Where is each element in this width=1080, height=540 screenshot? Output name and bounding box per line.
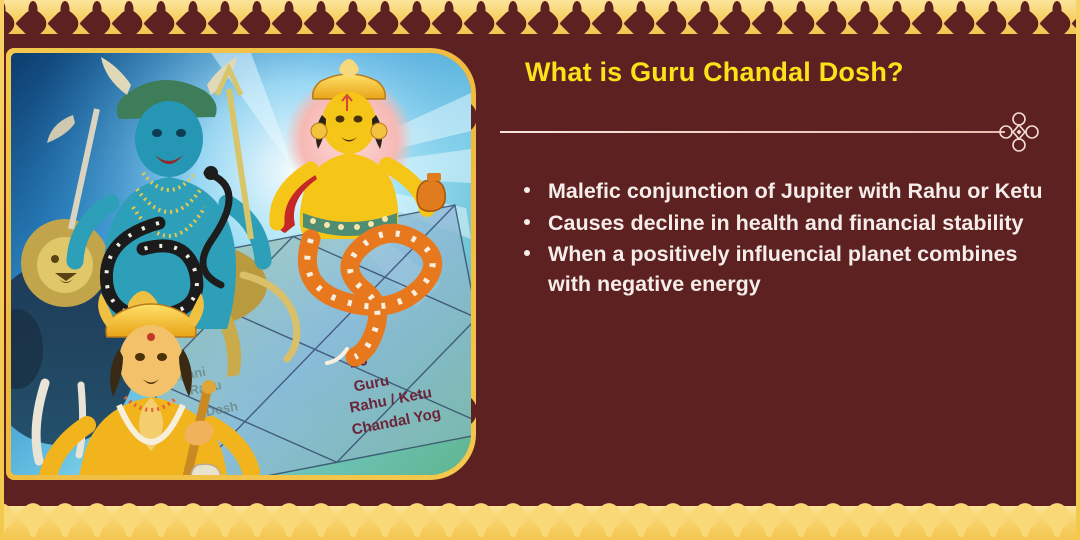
scallop-tooth-icon — [208, 506, 242, 540]
scallop-tooth-icon — [464, 0, 498, 34]
scallop-tooth-icon — [400, 0, 434, 34]
scallop-tooth-icon — [752, 0, 786, 34]
slide-canvas: 10 Guru Rahu / Ketu Chandal Yog Shani Ra… — [0, 0, 1080, 540]
scallop-tooth-icon — [816, 0, 850, 34]
border-edge-right — [1076, 0, 1080, 540]
scallop-tooth-icon — [48, 506, 82, 540]
page-title: What is Guru Chandal Dosh? — [525, 56, 1052, 88]
scallop-tooth-icon — [368, 506, 402, 540]
scallop-tooth-icon — [144, 0, 178, 34]
border-top — [0, 0, 1080, 34]
scallop-tooth-icon — [720, 506, 754, 540]
scallop-tooth-icon — [336, 506, 370, 540]
scallop-tooth-icon — [944, 0, 978, 34]
scallop-tooth-icon — [912, 506, 946, 540]
scallop-tooth-icon — [272, 0, 306, 34]
scallop-tooth-icon — [1008, 0, 1042, 34]
scallop-tooth-icon — [528, 0, 562, 34]
scallop-tooth-icon — [16, 0, 50, 34]
scallop-tooth-icon — [656, 506, 690, 540]
scallop-tooth-icon — [1040, 506, 1074, 540]
content-column: What is Guru Chandal Dosh? Malefic conju… — [500, 56, 1052, 301]
scallop-tooth-icon — [48, 0, 82, 34]
scallop-tooth-icon — [976, 0, 1010, 34]
bullet-list: Malefic conjunction of Jupiter with Rahu… — [518, 177, 1052, 299]
bullet-text: Causes decline in health and financial s… — [548, 211, 1024, 235]
list-item: When a positively influencial planet com… — [518, 240, 1052, 299]
scallop-tooth-icon — [880, 0, 914, 34]
quatrefoil-knot-icon — [998, 111, 1040, 153]
scallop-tooth-icon — [720, 0, 754, 34]
scallop-tooth-icon — [528, 506, 562, 540]
scallop-tooth-icon — [80, 506, 114, 540]
border-bottom — [0, 506, 1080, 540]
scallop-tooth-icon — [432, 506, 466, 540]
list-item: Malefic conjunction of Jupiter with Rahu… — [518, 177, 1052, 206]
scallop-tooth-icon — [304, 0, 338, 34]
scallop-tooth-icon — [80, 0, 114, 34]
scallop-tooth-icon — [176, 506, 210, 540]
scallop-tooth-icon — [784, 0, 818, 34]
scallop-tooth-icon — [16, 506, 50, 540]
scallop-tooth-icon — [272, 506, 306, 540]
scallop-tooth-icon — [816, 506, 850, 540]
divider — [500, 121, 1052, 143]
scallop-tooth-icon — [240, 0, 274, 34]
scallop-tooth-icon — [944, 506, 978, 540]
bullet-dot-icon — [524, 219, 530, 225]
scallop-tooth-icon — [688, 0, 722, 34]
scallop-tooth-icon — [592, 506, 626, 540]
border-edge-left — [0, 0, 4, 540]
scallop-tooth-icon — [304, 506, 338, 540]
scallop-tooth-icon — [784, 506, 818, 540]
list-item: Causes decline in health and financial s… — [518, 209, 1052, 238]
scallop-tooth-icon — [880, 506, 914, 540]
scallop-tooth-icon — [144, 506, 178, 540]
scallop-tooth-icon — [112, 0, 146, 34]
scallop-tooth-icon — [1008, 506, 1042, 540]
scallop-tooth-icon — [848, 506, 882, 540]
scallop-tooth-icon — [176, 0, 210, 34]
scallop-tooth-icon — [240, 506, 274, 540]
scallop-tooth-icon — [592, 0, 626, 34]
scallop-tooth-icon — [656, 0, 690, 34]
scallop-tooth-icon — [688, 506, 722, 540]
scallop-tooth-icon — [752, 506, 786, 540]
scallop-tooth-icon — [624, 506, 658, 540]
image-card: 10 Guru Rahu / Ketu Chandal Yog Shani Ra… — [6, 48, 476, 480]
scallop-tooth-icon — [912, 0, 946, 34]
deity-astrology-illustration: 10 Guru Rahu / Ketu Chandal Yog Shani Ra… — [11, 53, 471, 475]
scallop-tooth-icon — [848, 0, 882, 34]
scallop-tooth-icon — [400, 506, 434, 540]
divider-line — [500, 131, 1005, 133]
scallop-tooth-icon — [432, 0, 466, 34]
scallop-tooth-icon — [496, 506, 530, 540]
scallop-tooth-icon — [496, 0, 530, 34]
bullet-text: When a positively influencial planet com… — [548, 242, 1018, 295]
scallop-tooth-icon — [336, 0, 370, 34]
scallop-tooth-icon — [560, 506, 594, 540]
scallop-tooth-icon — [112, 506, 146, 540]
scallop-tooth-icon — [560, 0, 594, 34]
bullet-dot-icon — [524, 250, 530, 256]
scallop-tooth-icon — [1040, 0, 1074, 34]
bullet-text: Malefic conjunction of Jupiter with Rahu… — [548, 179, 1043, 203]
scallop-tooth-icon — [976, 506, 1010, 540]
scallop-tooth-icon — [464, 506, 498, 540]
scallop-tooth-icon — [624, 0, 658, 34]
scallop-tooth-icon — [208, 0, 242, 34]
scallop-tooth-icon — [368, 0, 402, 34]
bullet-dot-icon — [524, 187, 530, 193]
